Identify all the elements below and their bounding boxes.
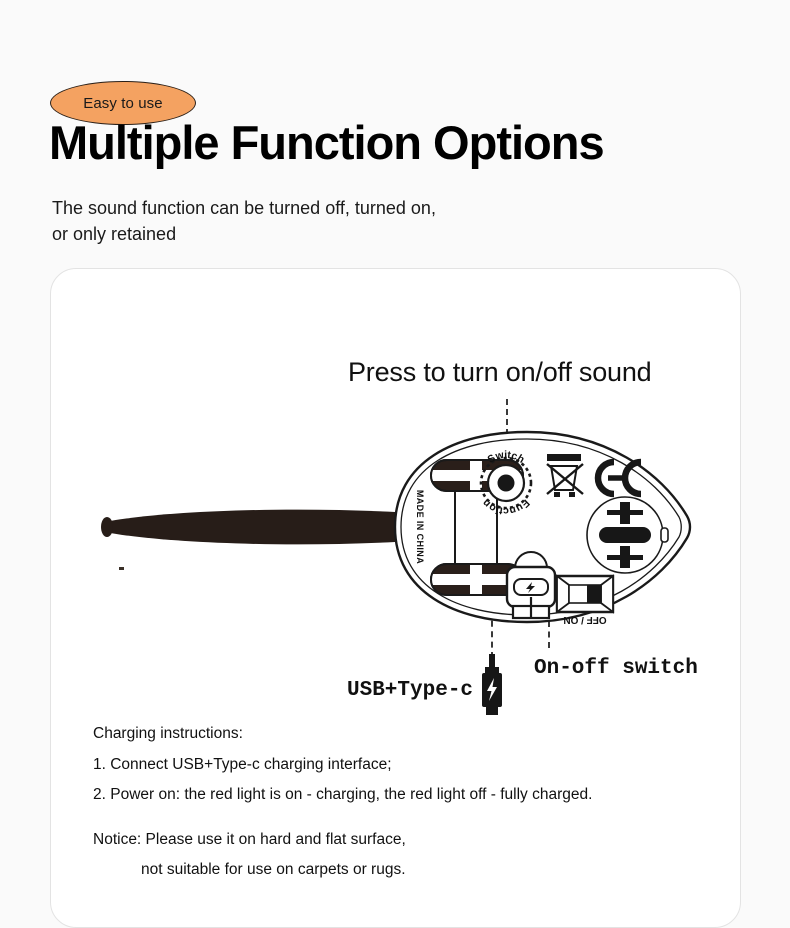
- switch-button-dot: [498, 475, 515, 492]
- subtitle-line-1: The sound function can be turned off, tu…: [52, 196, 436, 222]
- handle-tip: [101, 517, 113, 537]
- instructions-block: Charging instructions: 1. Connect USB+Ty…: [93, 726, 693, 893]
- switch-toggle-indicator: [587, 585, 601, 603]
- page-title: Multiple Function Options: [49, 119, 604, 166]
- badge-label: Easy to use: [83, 95, 162, 112]
- instructions-step-1: 1. Connect USB+Type-c charging interface…: [93, 757, 693, 773]
- device-handle: [105, 510, 395, 545]
- callout-usb-typec: USB+Type-c: [347, 679, 473, 702]
- callout-onoff-switch: On-off switch: [534, 657, 698, 680]
- instructions-spacer: [93, 818, 693, 832]
- battery-cover-slot: [599, 527, 651, 543]
- device-illustration: MADE IN CHINA: [95, 420, 695, 640]
- page-subtitle: The sound function can be turned off, tu…: [52, 196, 436, 247]
- callout-press-sound: Press to turn on/off sound: [348, 357, 652, 388]
- product-info-page: Easy to use Multiple Function Options Th…: [0, 0, 790, 908]
- made-in-china-label: MADE IN CHINA: [415, 490, 425, 564]
- notice-line-2: not suitable for use on carpets or rugs.: [141, 862, 693, 878]
- handle-speck: [119, 567, 124, 570]
- notice-line-1: Notice: Please use it on hard and flat s…: [93, 832, 693, 848]
- instructions-step-2: 2. Power on: the red light is on - charg…: [93, 787, 693, 803]
- onoff-plate-label: OFF / ON: [563, 614, 606, 625]
- subtitle-line-2: or only retained: [52, 222, 436, 248]
- instructions-heading: Charging instructions:: [93, 726, 693, 742]
- onoff-switch-plate: OFF / ON: [557, 576, 613, 625]
- usb-connector-icon: [478, 654, 506, 716]
